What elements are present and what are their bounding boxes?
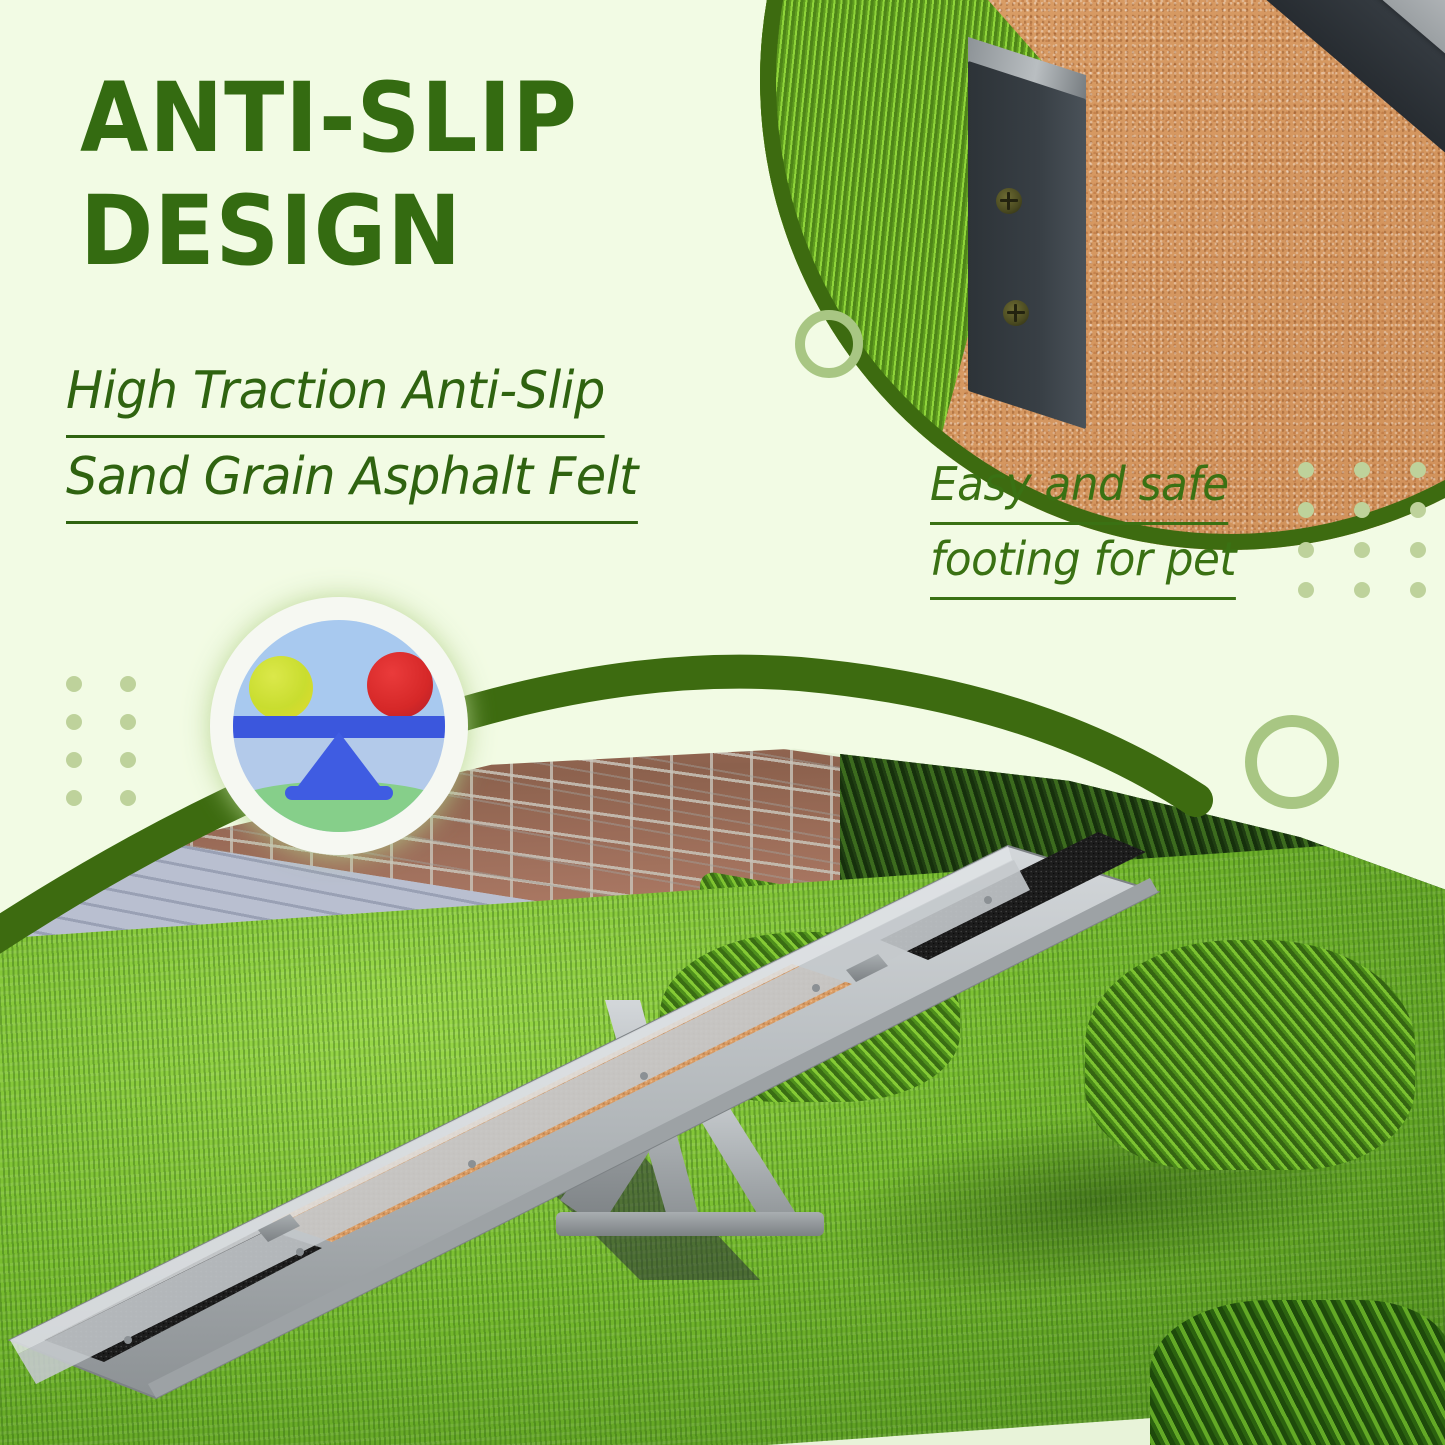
dot-grid-right [1298, 462, 1445, 622]
screw-icon [1003, 300, 1029, 326]
caption-line-1: Easy and safe [930, 450, 1229, 525]
subheading-line-2: Sand Grain Asphalt Felt [66, 438, 638, 524]
seesaw-balance-icon [233, 620, 445, 832]
headline-line-1: Anti-Slip [80, 62, 578, 174]
badge-ball-red-icon [367, 652, 433, 718]
subheading: High Traction Anti-Slip Sand Grain Aspha… [66, 352, 731, 524]
headline-line-2: Design [80, 175, 687, 288]
badge-fulcrum-base [285, 786, 393, 800]
inset-support-post [968, 61, 1086, 429]
marketing-banner: Anti-Slip Design High Traction Anti-Slip… [0, 0, 1445, 1445]
feature-caption: Easy and safe footing for pet [930, 450, 1291, 600]
decorative-ring-upper-icon [795, 310, 863, 378]
badge-ball-yellow-icon [249, 656, 313, 720]
subheading-line-1: High Traction Anti-Slip [66, 352, 605, 438]
page-title: Anti-Slip Design [80, 62, 687, 289]
caption-line-2: footing for pet [930, 525, 1236, 600]
screw-icon [996, 188, 1022, 214]
dot-grid-left [66, 676, 174, 828]
decorative-ring-lower-icon [1245, 715, 1339, 809]
seesaw-balance-badge [210, 597, 468, 855]
